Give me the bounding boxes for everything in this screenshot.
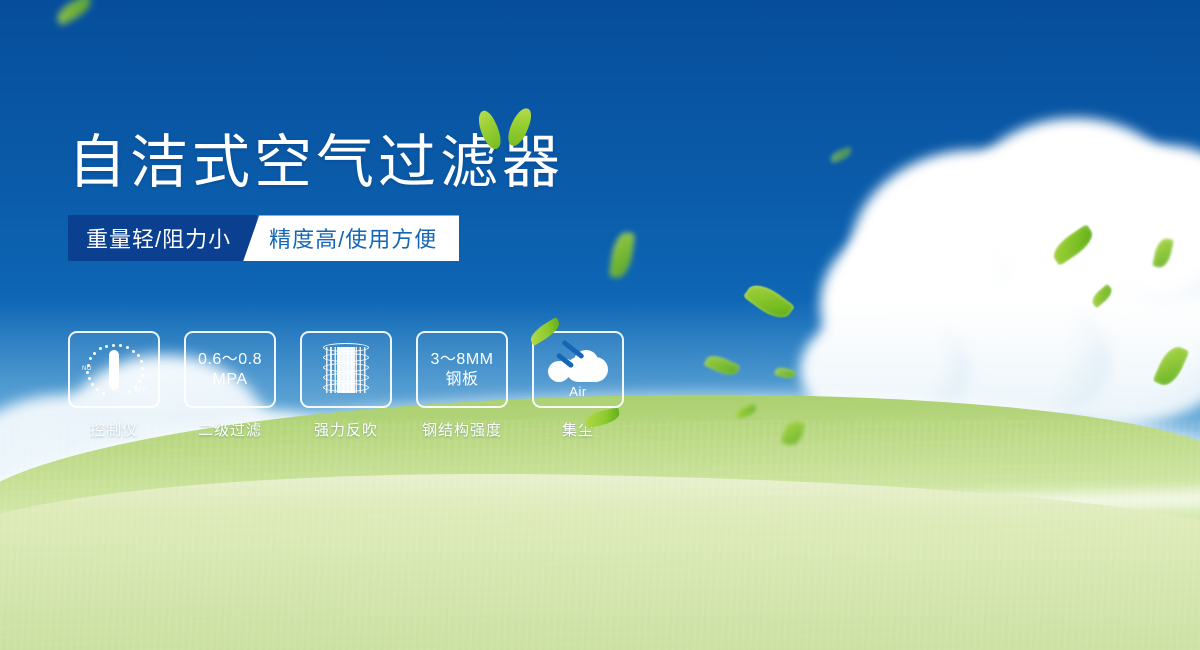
floating-leaf-13 [829,147,853,164]
cloud-right-cumulus [820,110,1200,440]
subtitle-badge-left: 重量轻/阻力小 [68,215,257,261]
cloud-wisp-upper-right [890,240,1190,360]
feature-item-controller[interactable]: NO OFF [68,331,160,440]
feature-caption-steel-strength: 钢结构强度 [416,419,508,440]
gauge-needle-icon [109,350,119,390]
feature-box-pressure: 0.6～0.8 MPA [184,331,276,408]
floating-leaf-11 [1152,237,1174,270]
gauge-icon: NO OFF [83,341,145,399]
filter-cartridge-icon [320,341,372,399]
steel-value-line2: 钢板 [445,370,478,390]
floating-leaf-5 [774,365,796,381]
floating-leaf-8 [1048,224,1097,266]
feature-box-reverse-blow [300,331,392,408]
subtitle-badge: 重量轻/阻力小 精度高/使用方便 [68,215,459,261]
steel-value-line1: 3～8MM [431,350,494,370]
air-cloud-icon: Air [546,344,610,396]
feature-box-dust: Air [532,331,624,408]
floating-leaf-4 [703,352,740,380]
feature-item-two-stage-filter[interactable]: 0.6～0.8 MPA 二级过滤 [184,331,276,440]
page-title: 自洁式空气过滤器 [68,132,708,193]
floating-leaf-3 [743,278,795,325]
feature-box-controller: NO OFF [68,331,160,408]
subtitle-badge-right: 精度高/使用方便 [243,215,459,261]
pressure-value-line1: 0.6～0.8 [198,350,262,370]
floating-leaf-1 [53,0,94,26]
feature-box-steel: 3～8MM 钢板 [416,331,508,408]
feature-caption-reverse-blow: 强力反吹 [300,419,392,440]
air-slash-icon [561,339,585,359]
title-leaf-left-icon [474,108,506,151]
feature-list: NO OFF [68,331,624,440]
feature-item-dust-collection[interactable]: Air 集尘 [532,331,624,440]
feature-caption-controller: 控制仪 [68,419,160,440]
pressure-value-line2: MPA [213,370,248,390]
banner-content: 自洁式空气过滤器 重量轻/阻力小 精度高/使用方便 [68,132,708,261]
title-leaf-right-icon [505,105,535,148]
floating-leaf-12 [1152,342,1189,389]
product-banner: 自洁式空气过滤器 重量轻/阻力小 精度高/使用方便 NO OFF [0,0,1200,650]
air-label: Air [546,384,610,399]
feature-item-steel-strength[interactable]: 3～8MM 钢板 钢结构强度 [416,331,508,440]
title-leaf-pair-icon [477,104,547,154]
floating-leaf-10 [1089,284,1115,309]
feature-caption-two-stage-filter: 二级过滤 [184,419,276,440]
feature-item-reverse-blow[interactable]: 强力反吹 [300,331,392,440]
